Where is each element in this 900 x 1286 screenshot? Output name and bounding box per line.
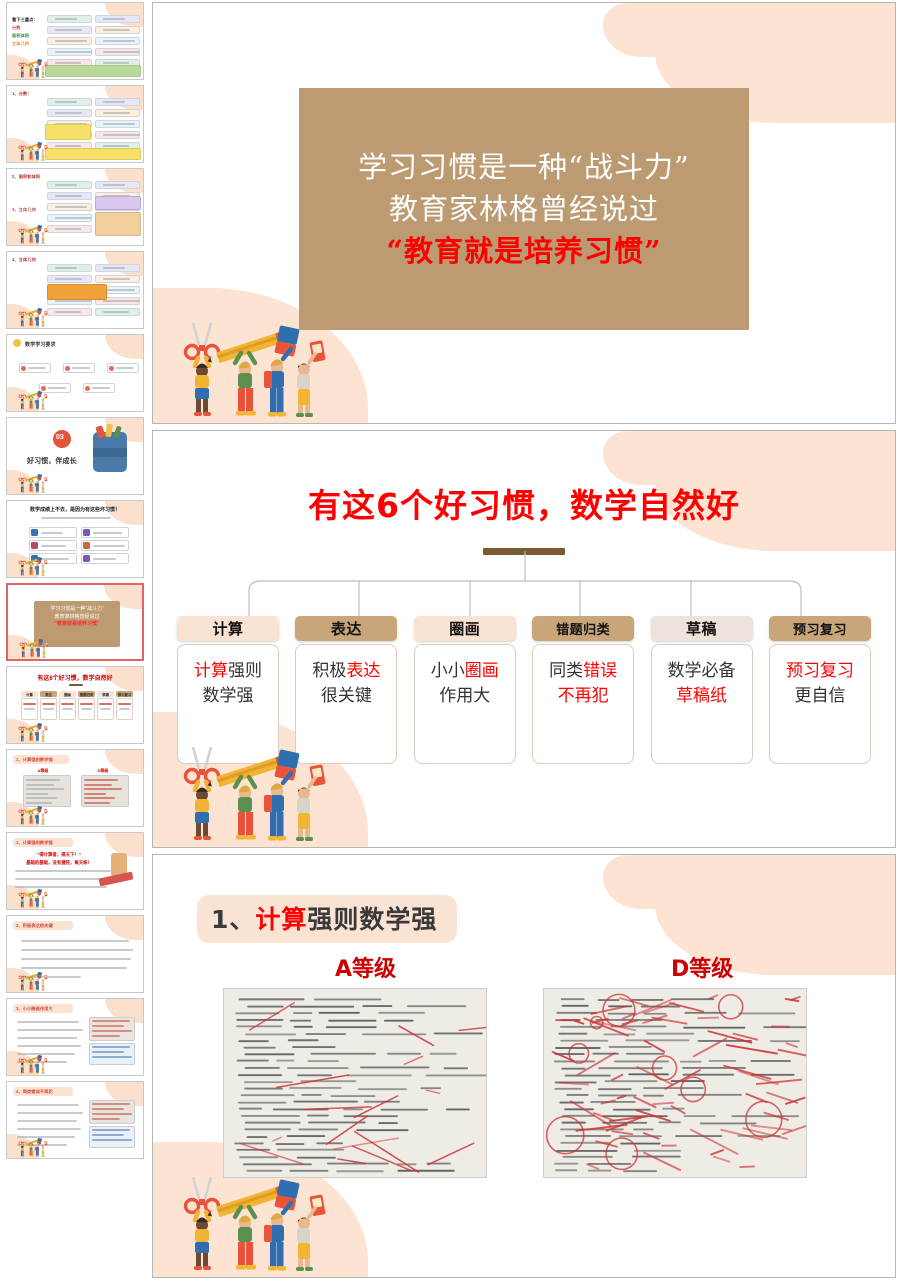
kids-illustration — [10, 803, 56, 825]
quote-card[interactable]: 学习习惯是一种“战斗力” 教育家林格曾经说过 “教育就是培养习惯” — [299, 88, 749, 330]
habit-card-line1: 小小圈画 — [415, 659, 515, 684]
slide-thumbnail[interactable]: 数学学习要求 — [6, 334, 144, 412]
slide-thumbnail[interactable]: 1、计算强则数学强“得计算者，得天下！”基础的基础，没有捷径，每天练！ — [6, 832, 144, 910]
slide-thumbnail[interactable]: 学习习惯是一种“战斗力”教育家林格曾经说过“教育就是培养习惯” — [6, 583, 144, 661]
quote-line-2: 教育家林格曾经说过 — [389, 191, 659, 227]
slide-thumbnail[interactable]: 1、分数： — [6, 85, 144, 163]
habit-card-line1: 数学必备 — [652, 659, 752, 684]
habit-header-1[interactable]: 计算 — [177, 616, 279, 641]
decor-blob-icon — [105, 915, 144, 940]
habit-header-5[interactable]: 草稿 — [651, 616, 753, 641]
habit-card-line2: 很关键 — [296, 684, 396, 709]
kids-illustration — [10, 969, 56, 991]
slide-thumbnail[interactable]: 2、积极表达很关键 — [6, 915, 144, 993]
kids-illustration — [10, 388, 56, 410]
habit-card-line1: 预习复习 — [770, 659, 870, 684]
badge-prefix: 1、 — [211, 905, 255, 934]
habit-card-line1: 计算强则 — [178, 659, 278, 684]
kids-illustration — [159, 735, 349, 845]
slide-thumbnail[interactable]: 4、同类错误不再犯 — [6, 1081, 144, 1159]
slide-six-habits[interactable]: 有这6个好习惯，数学自然好 计算表达圈画错题归类草稿预习复习 计算强则数学强积极… — [152, 430, 896, 848]
worksheet-photo-a[interactable] — [223, 988, 487, 1178]
kids-illustration — [11, 636, 57, 658]
worksheet-photo-d[interactable] — [543, 988, 807, 1178]
badge-keyword: 计算 — [255, 905, 307, 934]
kids-illustration — [10, 720, 56, 742]
kids-illustration — [159, 1165, 349, 1275]
presentation-editor: 看下三重点：分数面积体积立体几何 1、分数： — [0, 0, 900, 1286]
slide-stage: 学习习惯是一种“战斗力” 教育家林格曾经说过 “教育就是培养习惯” — [150, 0, 900, 1286]
habit-card-5[interactable]: 数学必备草稿纸 — [651, 644, 753, 764]
habit-header-row: 计算表达圈画错题归类草稿预习复习 — [177, 616, 871, 641]
slide-title: 有这6个好习惯，数学自然好 — [153, 479, 895, 527]
kids-illustration — [10, 886, 56, 908]
badge-rest: 强则数学强 — [307, 905, 437, 934]
org-chart-connectors — [153, 551, 896, 617]
kids-illustration — [10, 56, 56, 78]
slide-thumbnail[interactable]: 3、小小圈画作用大 — [6, 998, 144, 1076]
habit-card-line1: 积极表达 — [296, 659, 396, 684]
slide-thumbnail[interactable]: 3、立体几何 — [6, 251, 144, 329]
habit-card-line2: 更自信 — [770, 684, 870, 709]
kids-illustration — [10, 554, 56, 576]
habit-card-line2: 作用大 — [415, 684, 515, 709]
slide-thumbnail[interactable]: 有这6个好习惯，数学自然好计算表达圈画错题归类草稿预习复习 — [6, 666, 144, 744]
habit-card-3[interactable]: 小小圈画作用大 — [414, 644, 516, 764]
kids-illustration — [159, 311, 349, 421]
grade-label-d: D等级 — [671, 951, 733, 983]
habit-card-line1: 同类错误 — [533, 659, 633, 684]
section-badge: 1、计算强则数学强 — [197, 895, 457, 943]
habit-card-line2: 不再犯 — [533, 684, 633, 709]
habit-card-6[interactable]: 预习复习更自信 — [769, 644, 871, 764]
kids-illustration — [10, 139, 56, 161]
habit-card-line2: 草稿纸 — [652, 684, 752, 709]
kids-illustration — [10, 1135, 56, 1157]
slide-thumbnail[interactable]: 数学成绩上不去，是因为有这些坏习惯！ — [6, 500, 144, 578]
kids-illustration — [10, 222, 56, 244]
slide-quote[interactable]: 学习习惯是一种“战斗力” 教育家林格曾经说过 “教育就是培养习惯” — [152, 2, 896, 424]
slide-thumbnail[interactable]: 03好习惯，伴成长 — [6, 417, 144, 495]
slide-thumbnail-panel[interactable]: 看下三重点：分数面积体积立体几何 1、分数： — [0, 0, 150, 1286]
habit-card-line2: 数学强 — [178, 684, 278, 709]
decor-blob-icon — [105, 334, 144, 359]
slide-calculation[interactable]: 1、计算强则数学强 A等级 D等级 — [152, 854, 896, 1278]
quote-line-1: 学习习惯是一种“战斗力” — [358, 149, 690, 185]
habit-header-3[interactable]: 圈画 — [414, 616, 516, 641]
slide-thumbnail[interactable]: 1、计算强则数学强A等级D等级 — [6, 749, 144, 827]
kids-illustration — [10, 1052, 56, 1074]
slide-thumbnail[interactable]: 2、面积和体积3、立体几何 — [6, 168, 144, 246]
quote-line-3: “教育就是培养习惯” — [386, 233, 661, 269]
habit-card-4[interactable]: 同类错误不再犯 — [532, 644, 634, 764]
grade-label-a: A等级 — [335, 951, 396, 983]
habit-header-4[interactable]: 错题归类 — [532, 616, 634, 641]
slide-thumbnail[interactable]: 看下三重点：分数面积体积立体几何 — [6, 2, 144, 80]
kids-illustration — [10, 471, 56, 493]
habit-header-2[interactable]: 表达 — [295, 616, 397, 641]
kids-illustration — [10, 305, 56, 327]
habit-header-6[interactable]: 预习复习 — [769, 616, 871, 641]
